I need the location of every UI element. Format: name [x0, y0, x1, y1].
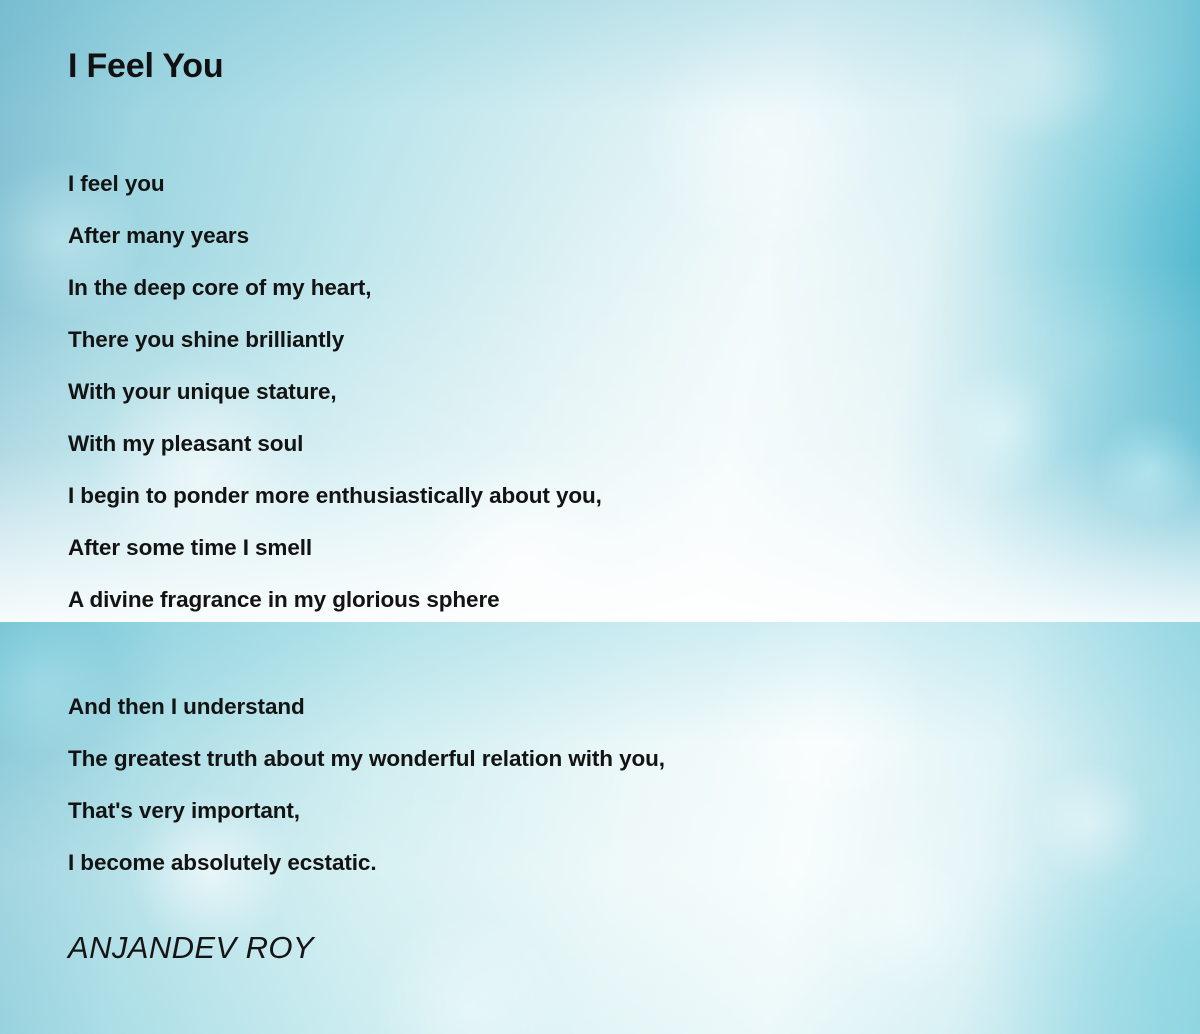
poem-author-signature: ANJANDEV ROY	[68, 930, 314, 966]
poem-line: After some time I smell	[68, 522, 1128, 574]
poem-line: There you shine brilliantly	[68, 314, 1128, 366]
poem-line: I feel you	[68, 158, 1128, 210]
poem-line: And then I understand	[68, 681, 1128, 733]
poem-line: I begin to ponder more enthusiastically …	[68, 470, 1128, 522]
poem-title: I Feel You	[68, 47, 223, 86]
poem-stanza-2: And then I understandThe greatest truth …	[68, 681, 1128, 889]
poem-line: I become absolutely ecstatic.	[68, 837, 1128, 889]
poem-content: I Feel You I feel youAfter many yearsIn …	[0, 0, 1200, 1034]
poem-page: I Feel You I feel youAfter many yearsIn …	[0, 0, 1200, 1034]
poem-line: After many years	[68, 210, 1128, 262]
poem-line: The greatest truth about my wonderful re…	[68, 733, 1128, 785]
poem-line: In the deep core of my heart,	[68, 262, 1128, 314]
poem-stanza-1: I feel youAfter many yearsIn the deep co…	[68, 158, 1128, 626]
poem-line: A divine fragrance in my glorious sphere	[68, 574, 1128, 626]
poem-line: With my pleasant soul	[68, 418, 1128, 470]
poem-line: That's very important,	[68, 785, 1128, 837]
poem-line: With your unique stature,	[68, 366, 1128, 418]
